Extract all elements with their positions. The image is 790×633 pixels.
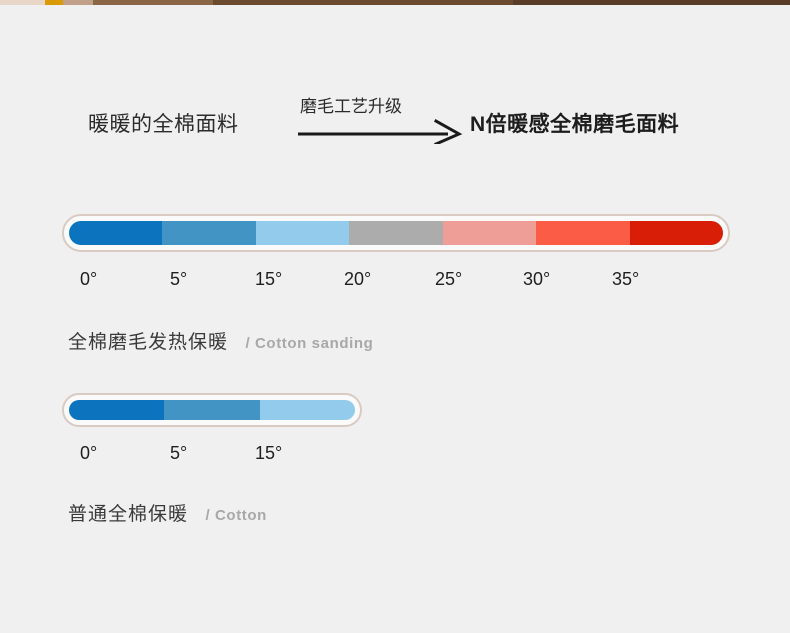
tick-label: 25° bbox=[435, 269, 462, 290]
upgrade-arrow-group: 磨毛工艺升级 bbox=[296, 92, 466, 150]
bar-segment bbox=[256, 221, 349, 245]
tick-label: 20° bbox=[344, 269, 371, 290]
caption-en: / Cotton bbox=[205, 507, 266, 524]
tick-label: 30° bbox=[523, 269, 550, 290]
tick-label: 5° bbox=[170, 443, 187, 464]
top-strip-segment bbox=[45, 0, 63, 5]
bar-segment bbox=[630, 221, 723, 245]
top-cropped-strip bbox=[0, 0, 790, 5]
tick-labels-cotton-sanding: 0° 5° 15° 20° 25° 30° 35° bbox=[0, 269, 790, 295]
temperature-bar-cotton-sanding bbox=[62, 214, 730, 252]
top-strip-segment bbox=[93, 0, 213, 5]
tick-label: 15° bbox=[255, 269, 282, 290]
top-strip-segment bbox=[213, 0, 513, 5]
temperature-bar-segments bbox=[69, 221, 723, 245]
bar-segment bbox=[69, 221, 162, 245]
tick-label: 35° bbox=[612, 269, 639, 290]
header-after-label: N倍暖感全棉磨毛面料 bbox=[470, 108, 679, 138]
bar-segment bbox=[349, 221, 442, 245]
caption-cn: 普通全棉保暖 bbox=[68, 504, 188, 525]
bar-segment bbox=[69, 400, 164, 420]
right-arrow-icon bbox=[296, 118, 464, 144]
temperature-bar-cotton bbox=[62, 393, 362, 427]
caption-cn: 全棉磨毛发热保暖 bbox=[68, 332, 228, 353]
bar-segment bbox=[162, 221, 255, 245]
tick-labels-cotton: 0° 5° 15° bbox=[0, 443, 790, 469]
tick-label: 0° bbox=[80, 269, 97, 290]
caption-cotton-sanding: 全棉磨毛发热保暖 / Cotton sanding bbox=[68, 327, 373, 354]
temperature-bar-segments bbox=[69, 400, 355, 420]
top-strip-segment bbox=[0, 0, 45, 5]
tick-label: 15° bbox=[255, 443, 282, 464]
tick-label: 5° bbox=[170, 269, 187, 290]
upgrade-arrow-label: 磨毛工艺升级 bbox=[300, 92, 402, 117]
caption-cotton: 普通全棉保暖 / Cotton bbox=[68, 499, 267, 526]
caption-en: / Cotton sanding bbox=[245, 335, 373, 352]
bar-segment bbox=[260, 400, 355, 420]
tick-label: 0° bbox=[80, 443, 97, 464]
top-strip-segment bbox=[513, 0, 790, 5]
bar-segment bbox=[443, 221, 536, 245]
bar-segment bbox=[536, 221, 629, 245]
bar-segment bbox=[164, 400, 259, 420]
header-before-label: 暖暖的全棉面料 bbox=[88, 108, 239, 138]
top-strip-segment bbox=[63, 0, 93, 5]
header-comparison-row: 暖暖的全棉面料 磨毛工艺升级 N倍暖感全棉磨毛面料 bbox=[0, 92, 790, 152]
